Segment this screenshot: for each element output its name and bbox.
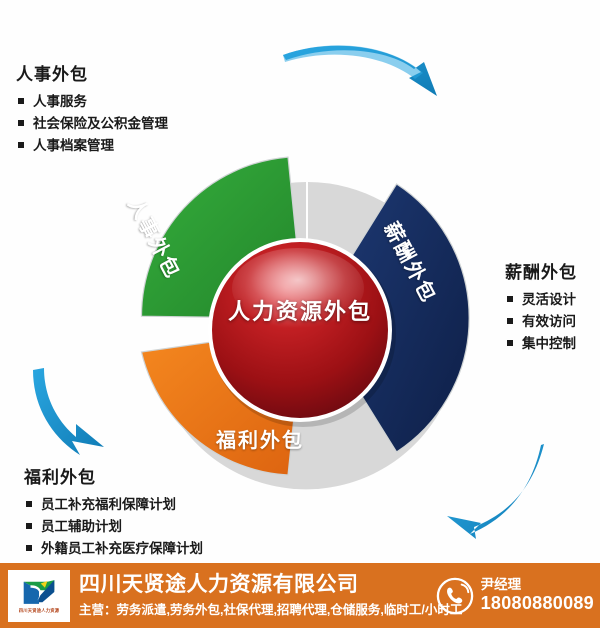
banner-text-group: 四川天贤途人力资源有限公司 主营：劳务派遣,劳务外包,社保代理,招聘代理,仓储服… xyxy=(79,573,436,619)
list-item: 人事档案管理 xyxy=(16,135,168,157)
arrow-top xyxy=(283,45,437,96)
text-block-welfare-list: 员工补充福利保障计划 员工辅助计划 外籍员工补充医疗保障计划 xyxy=(24,494,203,560)
contact-phone[interactable]: 18080880089 xyxy=(481,593,594,614)
list-item: 集中控制 xyxy=(505,333,577,355)
logo-mark-icon xyxy=(22,578,56,606)
phone-icon xyxy=(436,577,474,615)
contact-group[interactable]: 尹经理 18080880089 xyxy=(436,577,594,615)
text-block-payroll-list: 灵活设计 有效访问 集中控制 xyxy=(505,289,577,355)
company-banner: 四川天贤途人力资源 四川天贤途人力资源有限公司 主营：劳务派遣,劳务外包,社保代… xyxy=(0,563,600,628)
list-item: 有效访问 xyxy=(505,311,577,333)
text-block-welfare: 福利外包 员工补充福利保障计划 员工辅助计划 外籍员工补充医疗保障计划 xyxy=(24,463,203,560)
list-item: 员工辅助计划 xyxy=(24,516,203,538)
list-item: 人事服务 xyxy=(16,91,168,113)
contact-text-group: 尹经理 18080880089 xyxy=(481,577,594,614)
list-item: 外籍员工补充医疗保障计划 xyxy=(24,538,203,560)
arrow-bottom-right xyxy=(447,444,544,539)
text-block-welfare-title: 福利外包 xyxy=(24,463,203,488)
text-block-payroll: 薪酬外包 灵活设计 有效访问 集中控制 xyxy=(505,258,577,355)
company-name: 四川天贤途人力资源有限公司 xyxy=(79,573,436,597)
text-block-hr-title: 人事外包 xyxy=(16,60,168,85)
contact-name: 尹经理 xyxy=(481,577,594,593)
list-item: 社会保险及公积金管理 xyxy=(16,113,168,135)
hr-outsourcing-diagram: 人事外包 薪酬外包 福利外包 人力资源外包 人事外包 人事服务 社会保险及公积金… xyxy=(0,0,600,563)
text-block-hr-list: 人事服务 社会保险及公积金管理 人事档案管理 xyxy=(16,91,168,157)
company-scope: 主营：劳务派遣,劳务外包,社保代理,招聘代理,仓储服务,临时工/小时工 xyxy=(79,599,436,618)
company-logo: 四川天贤途人力资源 xyxy=(8,570,70,622)
text-block-payroll-title: 薪酬外包 xyxy=(505,258,577,283)
logo-caption: 四川天贤途人力资源 xyxy=(19,608,59,614)
text-block-hr: 人事外包 人事服务 社会保险及公积金管理 人事档案管理 xyxy=(16,60,168,157)
list-item: 员工补充福利保障计划 xyxy=(24,494,203,516)
arrow-left xyxy=(33,368,104,455)
list-item: 灵活设计 xyxy=(505,289,577,311)
